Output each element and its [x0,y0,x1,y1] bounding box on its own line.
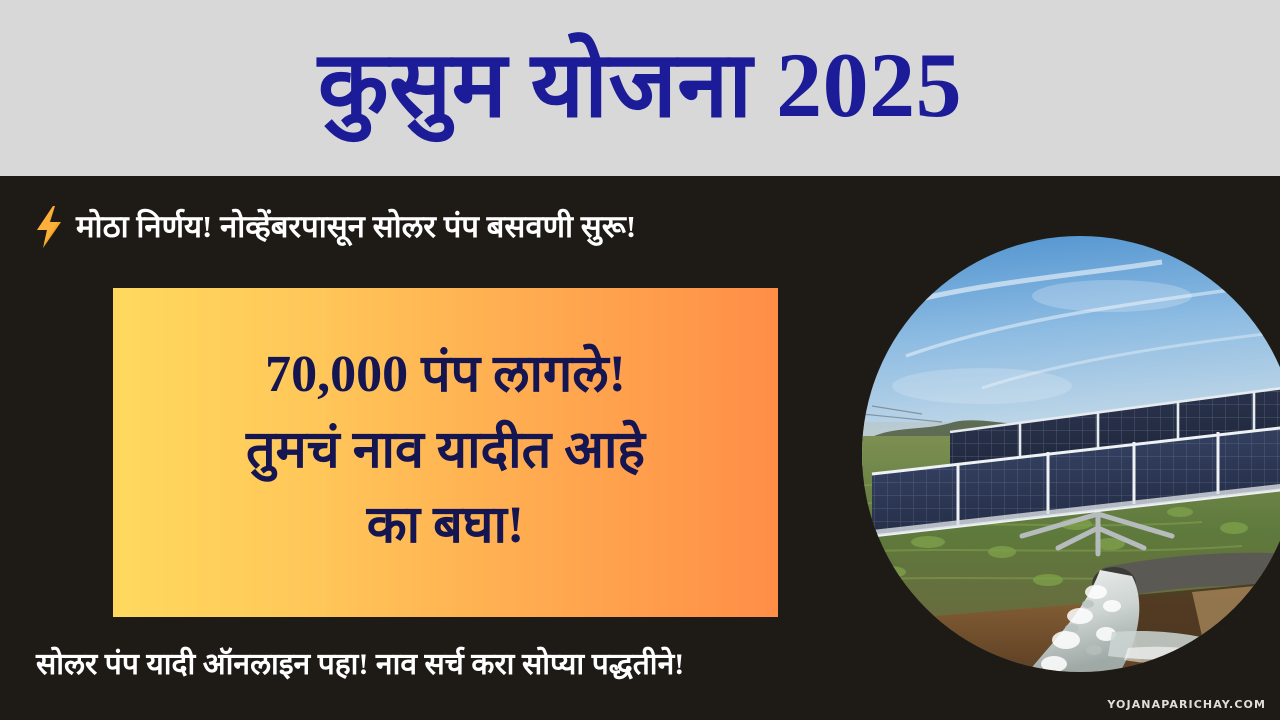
highlight-line-2: तुमचं नाव यादीत आहे [246,413,645,489]
subtitle-text: मोठा निर्णय! नोव्हेंबरपासून सोलर पंप बसव… [76,210,636,244]
poster-canvas: कुसुम योजना 2025 मोठा निर्णय! नोव्हेंबरप… [0,0,1280,720]
bottom-caption: सोलर पंप यादी ऑनलाइन पहा! नाव सर्च करा स… [36,648,684,681]
header-banner: कुसुम योजना 2025 [0,0,1280,176]
watermark: YOJANAPARICHAY.COM [1107,698,1266,711]
high-voltage-lightning-icon [34,206,64,248]
highlight-callout-box: 70,000 पंप लागले! तुमचं नाव यादीत आहे का… [113,288,778,617]
solar-pump-photo [862,236,1280,672]
subtitle-row: मोठा निर्णय! नोव्हेंबरपासून सोलर पंप बसव… [34,206,636,248]
highlight-line-3: का बघा! [367,488,525,564]
highlight-line-1: 70,000 पंप लागले! [265,337,626,413]
page-title: कुसुम योजना 2025 [318,39,962,137]
